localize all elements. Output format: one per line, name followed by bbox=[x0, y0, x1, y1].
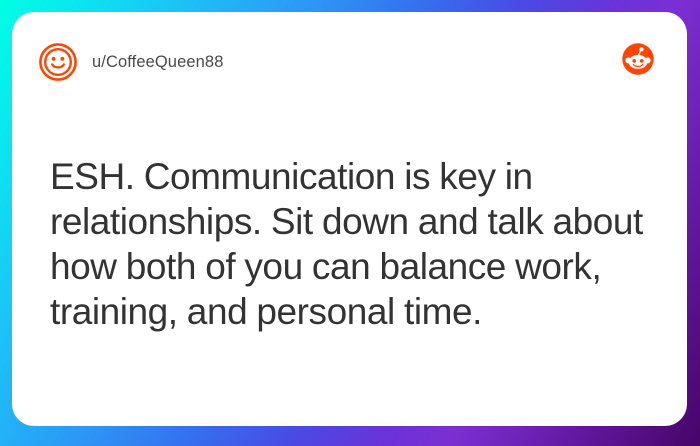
comment-text: ESH. Communication is key in relationshi… bbox=[50, 154, 653, 334]
reddit-snoo-icon[interactable] bbox=[621, 42, 655, 76]
screenshot-stage: u/CoffeeQueen88 ESH. Communication is ke… bbox=[0, 0, 700, 446]
smiley-face-icon[interactable] bbox=[38, 42, 78, 82]
comment-header: u/CoffeeQueen88 bbox=[38, 38, 665, 86]
author-username[interactable]: u/CoffeeQueen88 bbox=[92, 53, 223, 72]
reddit-comment-card: u/CoffeeQueen88 ESH. Communication is ke… bbox=[12, 12, 687, 426]
